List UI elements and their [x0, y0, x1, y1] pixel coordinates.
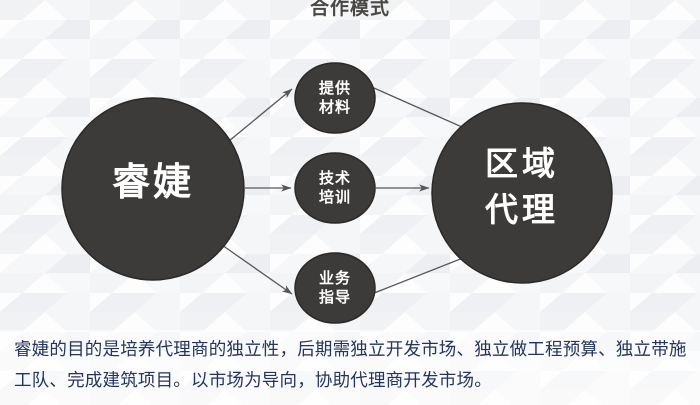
- node-technical-training[interactable]: [295, 153, 375, 223]
- slide-canvas: 合作模式 睿婕 区域 代理 提供 材料 技术 培: [0, 0, 700, 405]
- slide-title: 合作模式: [0, 0, 700, 19]
- caption-line-1: 睿婕的目的是培养代理商的独立性，后期需独立开发市场、独立做工程预算、独立带施: [14, 335, 690, 366]
- arrow-material-to-agent: [374, 88, 471, 131]
- arrow-ruijie-to-material: [229, 89, 292, 141]
- node-provide-material[interactable]: [295, 63, 375, 133]
- node-region-agent[interactable]: [432, 103, 612, 283]
- arrow-guidance-to-agent: [369, 254, 473, 295]
- arrow-ruijie-to-guidance: [222, 245, 292, 294]
- caption-text: 睿婕的目的是培养代理商的独立性，后期需独立开发市场、独立做工程预算、独立带施 工…: [14, 335, 690, 397]
- caption-line-2: 工队、完成建筑项目。以市场为导向，协助代理商开发市场。: [14, 366, 690, 397]
- node-ruijie[interactable]: [62, 98, 244, 280]
- node-business-guidance[interactable]: [295, 253, 375, 323]
